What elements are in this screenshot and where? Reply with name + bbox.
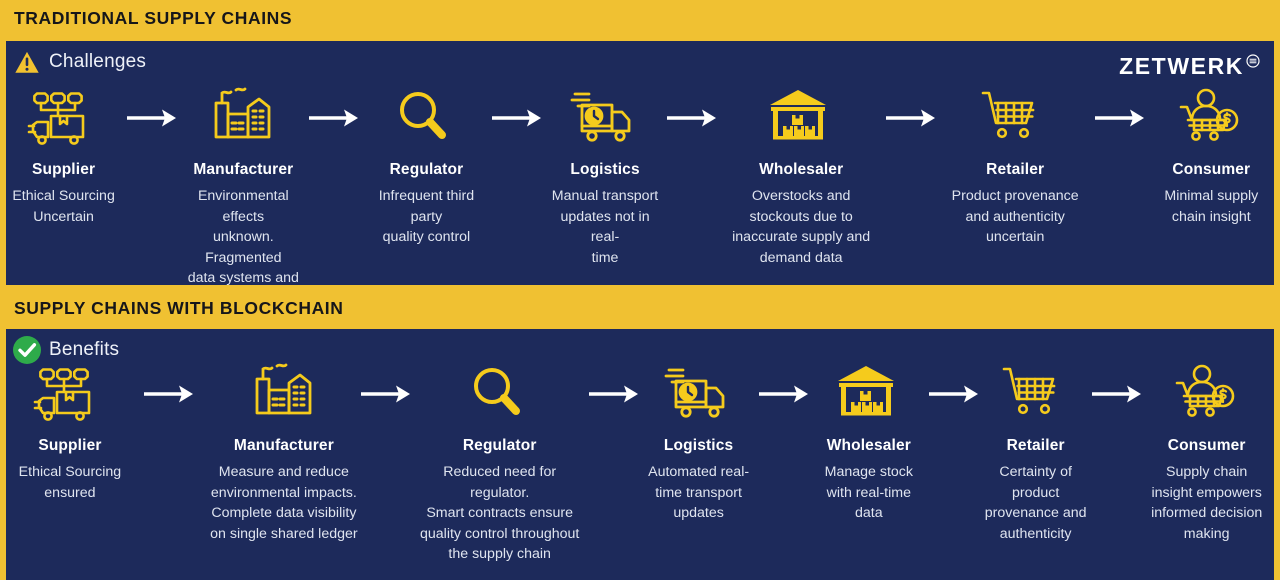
- blockchain-flow-row: Supplier Ethical Sourcing ensured Manufa…: [6, 357, 1274, 565]
- flow-node-description: Ethical Sourcing Uncertain: [12, 186, 115, 227]
- flow-node-title: Retailer: [986, 161, 1044, 179]
- magnifier-icon: [389, 81, 463, 155]
- shopping-cart-icon: [999, 357, 1073, 431]
- warning-triangle-icon: [12, 47, 42, 77]
- flow-node-consumer: Consumer Minimal supply chain insight: [1153, 81, 1270, 227]
- flow-node-description: Manual transport updates not in real- ti…: [551, 186, 658, 268]
- flow-node-wholesaler: Wholesaler Overstocks and stockouts due …: [725, 81, 878, 268]
- flow-node-wholesaler: Wholesaler Manage stock with real-time d…: [810, 357, 928, 524]
- right-arrow-icon: [878, 81, 944, 155]
- flow-node-title: Manufacturer: [234, 437, 334, 455]
- flow-node-description: Ethical Sourcing ensured: [19, 462, 122, 503]
- factory-icon: [206, 81, 280, 155]
- flow-node-title: Regulator: [390, 161, 464, 179]
- right-arrow-icon: [130, 357, 208, 431]
- factory-icon: [247, 357, 321, 431]
- right-arrow-icon: [299, 81, 369, 155]
- flow-node-title: Regulator: [463, 437, 537, 455]
- flow-node-supplier: Supplier Ethical Sourcing ensured: [10, 357, 130, 503]
- flow-node-title: Wholesaler: [827, 437, 911, 455]
- flow-node-title: Supplier: [32, 161, 95, 179]
- flow-node-description: Supply chain insight empowers informed d…: [1151, 462, 1262, 544]
- section-header-blockchain: SUPPLY CHAINS WITH BLOCKCHAIN: [0, 292, 1280, 324]
- challenges-badge-label: Challenges: [49, 51, 146, 73]
- zetwerk-wordmark: ZETWERK: [1119, 53, 1244, 80]
- flow-node-description: Minimal supply chain insight: [1164, 186, 1258, 227]
- right-arrow-icon: [659, 81, 725, 155]
- shopping-cart-icon: [978, 81, 1052, 155]
- flow-node-retailer: Retailer Certainty of product provenance…: [980, 357, 1091, 544]
- flow-node-supplier: Supplier Ethical Sourcing Uncertain: [10, 81, 117, 227]
- flow-node-title: Consumer: [1172, 161, 1250, 179]
- flow-node-logistics: Logistics Automated real- time transport…: [640, 357, 758, 524]
- zetwerk-logo: ZETWERK: [1119, 53, 1260, 80]
- warehouse-icon: [832, 357, 906, 431]
- right-arrow-icon: [1091, 357, 1143, 431]
- consumer-cart-dollar-icon: [1174, 81, 1248, 155]
- delivery-truck-clock-icon: [568, 81, 642, 155]
- flow-node-regulator: Regulator Infrequent third party quality…: [369, 81, 483, 248]
- right-arrow-icon: [928, 357, 980, 431]
- flow-node-description: Manage stock with real-time data: [825, 462, 913, 524]
- section-header-traditional-text: TRADITIONAL SUPPLY CHAINS: [14, 8, 292, 29]
- flow-node-description: Overstocks and stockouts due to inaccura…: [732, 186, 870, 268]
- flow-node-title: Consumer: [1168, 437, 1246, 455]
- traditional-supply-chain-panel: Challenges ZETWERK Supplier Eth: [3, 38, 1277, 288]
- flow-node-regulator: Regulator Reduced need for regulator. Sm…: [412, 357, 588, 565]
- right-arrow-icon: [758, 357, 810, 431]
- section-header-traditional: TRADITIONAL SUPPLY CHAINS: [0, 0, 1280, 36]
- flow-node-description: Certainty of product provenance and auth…: [985, 462, 1087, 544]
- flow-node-manufacturer: Manufacturer Measure and reduce environm…: [208, 357, 360, 544]
- registered-mark-icon: [1246, 54, 1260, 73]
- warehouse-icon: [764, 81, 838, 155]
- flow-node-description: Measure and reduce environmental impacts…: [210, 462, 358, 544]
- flow-node-consumer: Consumer Supply chain insight empowers i…: [1143, 357, 1270, 544]
- right-arrow-icon: [117, 81, 187, 155]
- right-arrow-icon: [483, 81, 551, 155]
- supplier-truck-network-icon: [27, 81, 101, 155]
- section-header-blockchain-text: SUPPLY CHAINS WITH BLOCKCHAIN: [14, 298, 344, 319]
- flow-node-title: Retailer: [1007, 437, 1065, 455]
- right-arrow-icon: [588, 357, 640, 431]
- supplier-truck-network-icon: [33, 357, 107, 431]
- benefits-badge-label: Benefits: [49, 339, 119, 361]
- flow-node-logistics: Logistics Manual transport updates not i…: [551, 81, 658, 268]
- right-arrow-icon: [1087, 81, 1153, 155]
- challenges-badge: Challenges: [12, 47, 146, 77]
- magnifier-icon: [463, 357, 537, 431]
- flow-node-description: Product provenance and authenticity unce…: [952, 186, 1079, 248]
- flow-node-description: Infrequent third party quality control: [369, 186, 483, 248]
- check-circle-icon: [12, 335, 42, 365]
- flow-node-title: Supplier: [38, 437, 101, 455]
- flow-node-title: Logistics: [570, 161, 639, 179]
- flow-node-title: Wholesaler: [759, 161, 843, 179]
- flow-node-retailer: Retailer Product provenance and authenti…: [944, 81, 1087, 248]
- flow-node-title: Logistics: [664, 437, 733, 455]
- blockchain-supply-chain-panel: Benefits Supplier Ethical Sourcing ensur…: [3, 326, 1277, 580]
- consumer-cart-dollar-icon: [1170, 357, 1244, 431]
- flow-node-description: Automated real- time transport updates: [648, 462, 749, 524]
- flow-node-description: Reduced need for regulator. Smart contra…: [412, 462, 588, 565]
- infographic-page: TRADITIONAL SUPPLY CHAINS Challenges ZET…: [0, 0, 1280, 580]
- delivery-truck-clock-icon: [662, 357, 736, 431]
- right-arrow-icon: [360, 357, 412, 431]
- benefits-badge: Benefits: [12, 335, 119, 365]
- flow-node-title: Manufacturer: [193, 161, 293, 179]
